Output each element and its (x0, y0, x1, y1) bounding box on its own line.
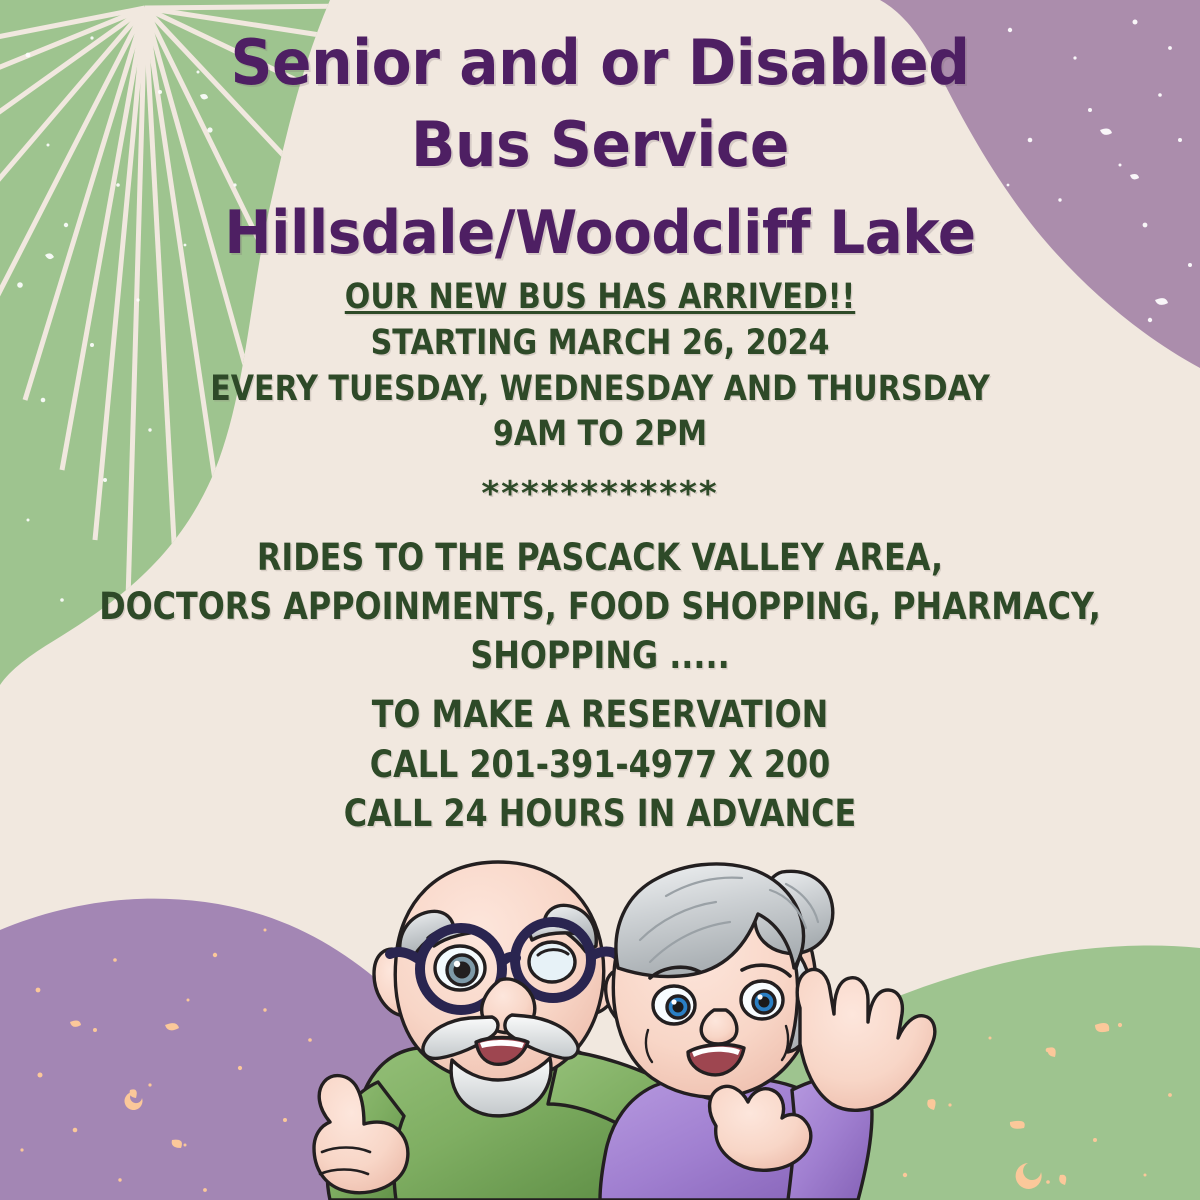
schedule-line-1: STARTING MARCH 26, 2024 (84, 321, 1116, 367)
title-line-2: Bus Service (36, 104, 1164, 186)
details-block: OUR NEW BUS HAS ARRIVED!! STARTING MARCH… (0, 275, 1200, 838)
schedule-line-3: 9AM TO 2PM (84, 412, 1116, 458)
announcement-text: OUR NEW BUS HAS ARRIVED!! (84, 275, 1116, 321)
title-line-3: Hillsdale/Woodcliff Lake (36, 194, 1164, 273)
asterisk-divider: ************ (0, 472, 1200, 517)
spacer (0, 680, 1200, 690)
title-group: Senior and or Disabled Bus Service Hills… (0, 0, 1200, 273)
services-line-3: SHOPPING ..... (84, 631, 1116, 680)
reservation-line-3: CALL 24 HOURS IN ADVANCE (84, 789, 1116, 838)
services-line-1: RIDES TO THE PASCACK VALLEY AREA, (84, 533, 1116, 582)
poster-content: Senior and or Disabled Bus Service Hills… (0, 0, 1200, 1200)
services-line-2: DOCTORS APPOINMENTS, FOOD SHOPPING, PHAR… (84, 582, 1116, 631)
schedule-line-2: EVERY TUESDAY, WEDNESDAY AND THURSDAY (84, 367, 1116, 413)
poster: Senior and or Disabled Bus Service Hills… (0, 0, 1200, 1200)
reservation-phone: CALL 201-391-4977 X 200 (84, 740, 1116, 789)
title-line-1: Senior and or Disabled (36, 22, 1164, 104)
reservation-line-1: TO MAKE A RESERVATION (84, 690, 1116, 739)
